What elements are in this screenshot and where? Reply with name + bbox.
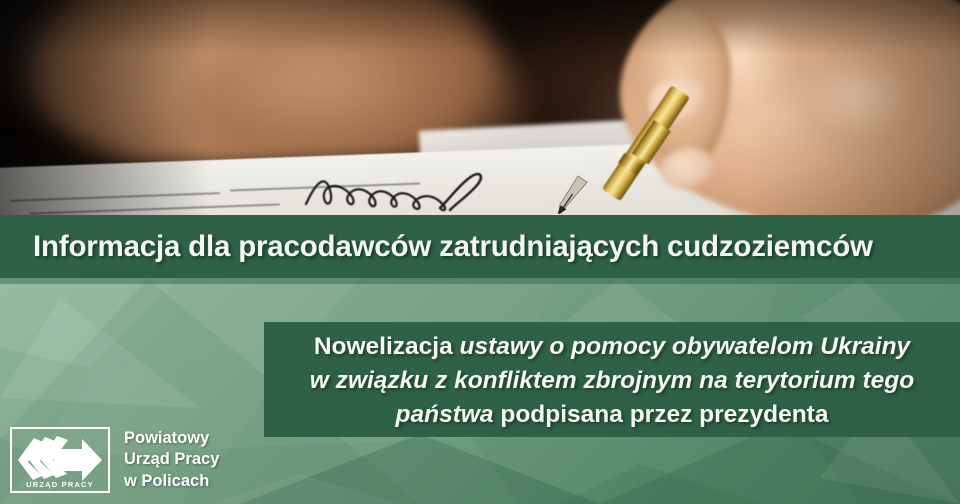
organization-name: Powiatowy Urząd Pracy w Policach: [124, 428, 219, 493]
organization-name-line: w Policach: [124, 471, 219, 493]
message-line: w związku z konfliktem zbrojnym na teryt…: [310, 364, 914, 398]
organization-name-line: Urząd Pracy: [124, 449, 219, 471]
message-segment-italic: w związku z konfliktem zbrojnym na teryt…: [310, 367, 914, 394]
organization-logo: URZĄD PRACY Powiatowy Urząd Pracy w Poli…: [10, 427, 219, 493]
logo-mark-caption: URZĄD PRACY: [26, 480, 94, 489]
message-segment-italic: państwa: [396, 401, 494, 428]
message-line: Nowelizacja ustawy o pomocy obywatelom U…: [314, 330, 910, 364]
message-box: Nowelizacja ustawy o pomocy obywatelom U…: [264, 322, 960, 437]
arrow-with-documents-icon: URZĄD PRACY: [10, 427, 110, 493]
banner-title-bar: Informacja dla pracodawców zatrudniający…: [0, 215, 960, 278]
signing-document-photo: [0, 0, 960, 215]
message-segment-italic: ustawy o pomocy obywatelom Ukrainy: [460, 333, 911, 360]
message-segment: podpisana przez prezydenta: [494, 401, 829, 428]
organization-name-line: Powiatowy: [124, 428, 219, 450]
message-segment: Nowelizacja: [314, 333, 460, 360]
photo-vignette: [0, 0, 960, 215]
page-title: Informacja dla pracodawców zatrudniający…: [33, 230, 873, 264]
logo-glyph: URZĄD PRACY: [12, 429, 108, 491]
message-line: państwa podpisana przez prezydenta: [396, 398, 829, 432]
information-banner: Informacja dla pracodawców zatrudniający…: [0, 0, 960, 504]
